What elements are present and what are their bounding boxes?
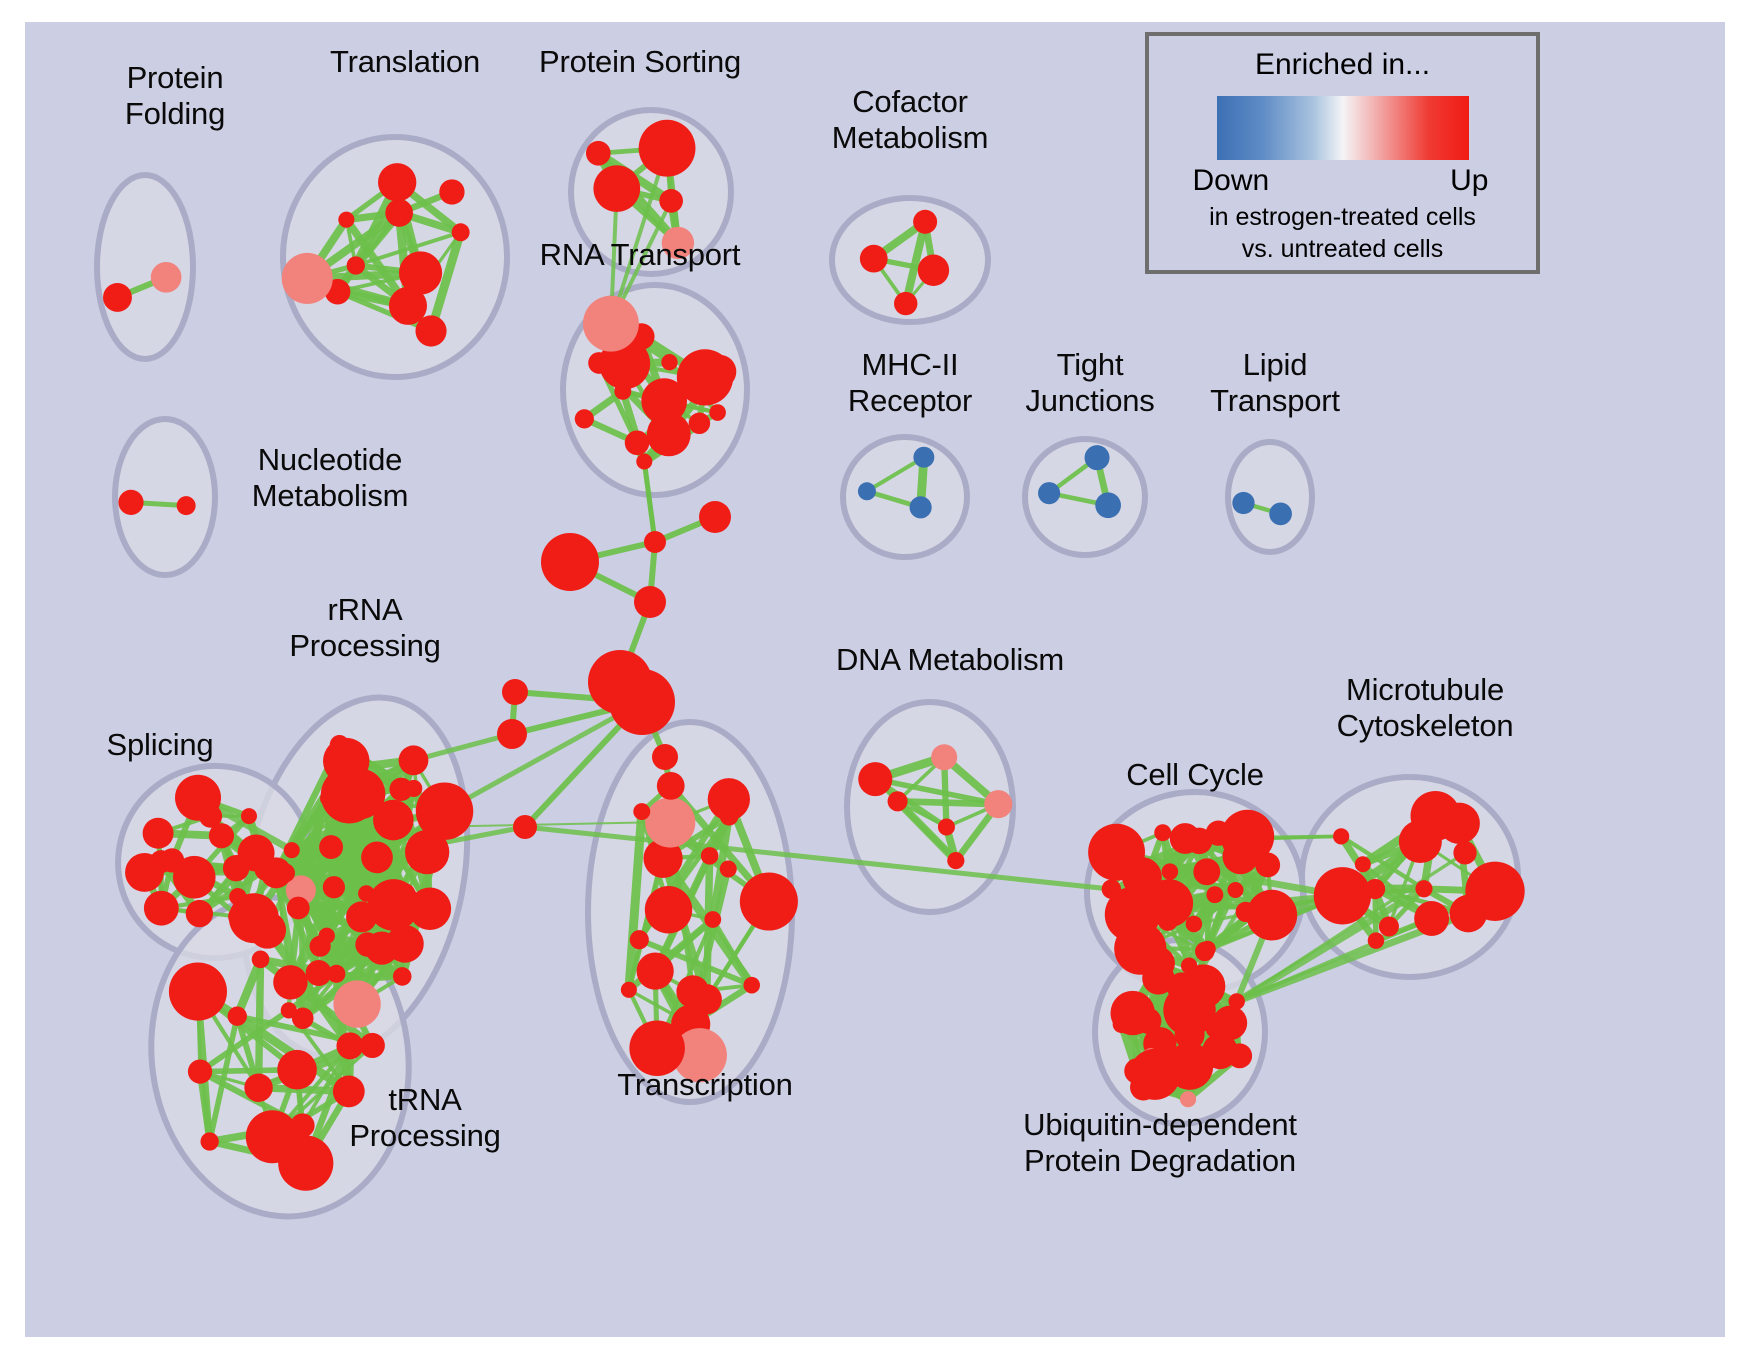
- network-node-dna_metabolism: [888, 791, 908, 811]
- network-node-protein_folding: [103, 283, 132, 312]
- cluster-label-tight_junctions: Tight Junctions: [1000, 347, 1180, 419]
- network-node-rrna_processing: [310, 936, 331, 957]
- network-node-splicing: [125, 853, 164, 892]
- legend-endpoints: Down Up: [1193, 164, 1493, 200]
- network-node-trna_processing: [249, 911, 286, 948]
- network-node-rrna_processing: [393, 967, 412, 986]
- network-node-microtubule: [1379, 916, 1399, 936]
- network-node-dna_metabolism: [947, 852, 964, 869]
- network-node-translation: [439, 179, 464, 204]
- network-node-lipid_transport: [1232, 492, 1254, 514]
- network-node-tight_junctions: [1038, 482, 1060, 504]
- network-node-cell_cycle: [1246, 890, 1297, 941]
- network-canvas: Protein FoldingTranslationProtein Sortin…: [25, 22, 1725, 1337]
- network-node: [634, 586, 666, 618]
- network-node-cell_cycle: [1088, 824, 1145, 881]
- network-node-rna_transport: [636, 453, 652, 469]
- network-node-ubiquitin: [1182, 964, 1226, 1008]
- cluster-label-mhc2_receptor: MHC-II Receptor: [815, 347, 1005, 419]
- cluster-label-ubiquitin: Ubiquitin-dependent Protein Degradation: [990, 1107, 1330, 1179]
- network-node-rna_transport: [703, 355, 737, 389]
- network-node-cell_cycle: [1221, 810, 1274, 863]
- network-node: [513, 815, 537, 839]
- network-node-rna_transport: [709, 404, 726, 421]
- network-node-translation: [282, 253, 333, 304]
- network-node-rrna_processing: [333, 980, 380, 1027]
- network-node-ubiquitin: [1227, 1043, 1252, 1068]
- legend-subtitle-line2: vs. untreated cells: [1149, 234, 1536, 264]
- network-node-rna_transport: [575, 409, 594, 428]
- network-node-splicing: [175, 775, 221, 821]
- network-node-transcription: [720, 861, 737, 878]
- legend-down-label: Down: [1193, 164, 1270, 198]
- network-node-microtubule: [1314, 867, 1371, 924]
- network-node-dna_metabolism: [858, 762, 892, 796]
- network-node-transcription: [637, 953, 674, 990]
- legend-subtitle-line1: in estrogen-treated cells: [1149, 202, 1536, 232]
- network-node-rrna_processing: [409, 888, 452, 931]
- network-node-trna_processing: [169, 962, 227, 1020]
- network-node-microtubule: [1439, 803, 1480, 844]
- network-node-trna_processing: [277, 1050, 317, 1090]
- network-node-lipid_transport: [1269, 502, 1292, 525]
- cluster-label-trna_processing: tRNA Processing: [325, 1082, 525, 1154]
- network-node-transcription: [621, 982, 637, 998]
- network-node-trna_processing: [228, 1006, 247, 1025]
- network-node-ubiquitin: [1142, 947, 1175, 980]
- network-node-cell_cycle: [1193, 858, 1220, 885]
- network-node-transcription: [645, 797, 695, 847]
- network-node: [502, 679, 528, 705]
- cluster-label-cell_cycle: Cell Cycle: [1100, 757, 1290, 793]
- figure-stage: Protein FoldingTranslationProtein Sortin…: [0, 0, 1750, 1360]
- cluster-label-dna_metabolism: DNA Metabolism: [815, 642, 1085, 678]
- legend-up-label: Up: [1450, 164, 1488, 198]
- network-node-dna_metabolism: [984, 790, 1012, 818]
- cluster-label-transcription: Transcription: [585, 1067, 825, 1103]
- network-node-rna_transport: [647, 412, 691, 456]
- network-node-cell_cycle: [1158, 910, 1178, 930]
- network-node-mhc2_receptor: [910, 496, 932, 518]
- cluster-ellipse-protein_folding: [97, 175, 193, 359]
- cluster-label-translation: Translation: [280, 44, 530, 80]
- network-node-rrna_processing: [386, 925, 424, 963]
- network-node-rna_transport: [689, 413, 711, 435]
- legend-box: Enriched in... Down Up in estrogen-treat…: [1145, 32, 1540, 274]
- cluster-label-microtubule: Microtubule Cytoskeleton: [1305, 672, 1545, 744]
- network-node-rrna_processing: [416, 782, 473, 839]
- network-node-microtubule: [1465, 862, 1524, 921]
- cluster-label-cofactor_metab: Cofactor Metabolism: [800, 84, 1020, 156]
- cluster-label-rrna_processing: rRNA Processing: [270, 592, 460, 664]
- network-node-cell_cycle: [1170, 823, 1201, 854]
- network-node-cell_cycle: [1227, 882, 1243, 898]
- network-node-splicing: [144, 891, 179, 926]
- network-node-translation: [415, 315, 446, 346]
- network-node-cofactor_metab: [918, 255, 949, 286]
- cluster-label-nucleotide_metab: Nucleotide Metabolism: [215, 442, 445, 514]
- network-node-ubiquitin: [1113, 1015, 1131, 1033]
- network-node-cell_cycle: [1102, 879, 1121, 898]
- network-node-ubiquitin: [1130, 1074, 1157, 1101]
- network-node-mhc2_receptor: [858, 482, 876, 500]
- network-node-translation: [452, 223, 470, 241]
- network-node-protein_sorting: [593, 165, 640, 212]
- network-node-rna_transport: [588, 352, 610, 374]
- network-node-dna_metabolism: [931, 744, 957, 770]
- network-node-ubiquitin: [1180, 1091, 1196, 1107]
- network-node: [699, 501, 731, 533]
- network-node-splicing: [255, 858, 278, 881]
- network-node-transcription: [708, 778, 750, 820]
- network-node-translation: [378, 163, 416, 201]
- network-node-cofactor_metab: [860, 245, 888, 273]
- network-node-rna_transport: [661, 354, 677, 370]
- network-node-trna_processing: [252, 950, 270, 968]
- network-node-tight_junctions: [1085, 445, 1110, 470]
- network-node-mhc2_receptor: [913, 447, 934, 468]
- network-node-translation: [338, 212, 354, 228]
- network-node-protein_sorting: [639, 120, 696, 177]
- network-node-transcription: [701, 847, 719, 865]
- network-node-ubiquitin: [1229, 993, 1245, 1009]
- network-node-splicing: [186, 900, 213, 927]
- network-node: [609, 669, 675, 735]
- network-node-cofactor_metab: [894, 292, 917, 315]
- network-node-rna_transport: [583, 296, 639, 352]
- network-node-transcription: [657, 772, 685, 800]
- network-node-trna_processing: [336, 1032, 363, 1059]
- cluster-label-protein_folding: Protein Folding: [85, 60, 265, 132]
- network-node-microtubule: [1333, 828, 1349, 844]
- network-node-protein_sorting: [586, 141, 611, 166]
- network-node: [652, 744, 678, 770]
- network-node-splicing: [143, 818, 174, 849]
- network-node-trna_processing: [360, 1033, 385, 1058]
- network-node-transcription: [743, 977, 760, 994]
- network-node-protein_sorting: [659, 189, 683, 213]
- network-node: [644, 531, 666, 553]
- legend-title: Enriched in...: [1149, 48, 1536, 82]
- network-node: [497, 719, 527, 749]
- network-node-trna_processing: [188, 1059, 212, 1083]
- cluster-label-splicing: Splicing: [80, 727, 240, 763]
- network-node-transcription: [630, 930, 649, 949]
- network-node-rrna_processing: [405, 780, 422, 797]
- network-node-transcription: [633, 803, 650, 820]
- network-node-rrna_processing: [361, 842, 393, 874]
- cluster-label-lipid_transport: Lipid Transport: [1185, 347, 1365, 419]
- network-node-transcription: [740, 872, 798, 930]
- network-node-microtubule: [1453, 841, 1476, 864]
- network-node-translation: [385, 199, 413, 227]
- network-node-nucleotide_metab: [118, 490, 143, 515]
- network-node-rrna_processing: [273, 965, 307, 999]
- network-node-rna_transport: [625, 430, 650, 455]
- network-node-tight_junctions: [1095, 492, 1121, 518]
- network-node-transcription: [645, 886, 692, 933]
- network-node-cell_cycle: [1195, 942, 1214, 961]
- network-node-splicing: [276, 863, 295, 882]
- network-node: [541, 533, 599, 591]
- network-node-cell_cycle: [1154, 824, 1171, 841]
- network-node-microtubule: [1368, 932, 1385, 949]
- network-node-rrna_processing: [319, 835, 343, 859]
- network-node-rrna_processing: [399, 745, 429, 775]
- network-node-ubiquitin: [1213, 1006, 1248, 1041]
- network-node-protein_folding: [151, 262, 182, 293]
- network-node-cell_cycle: [1206, 886, 1223, 903]
- network-node-microtubule: [1415, 880, 1432, 897]
- network-node-microtubule: [1355, 856, 1371, 872]
- network-node-rrna_processing: [287, 897, 310, 920]
- network-node-rrna_processing: [320, 790, 336, 806]
- network-node-ubiquitin: [1188, 968, 1206, 986]
- network-node-cell_cycle: [1186, 916, 1203, 933]
- network-node-trna_processing: [281, 1002, 297, 1018]
- legend-colorbar: [1217, 96, 1469, 160]
- network-node-rrna_processing: [284, 842, 300, 858]
- network-node-transcription: [704, 911, 721, 928]
- network-node-rrna_processing: [330, 735, 349, 754]
- network-node-splicing: [241, 808, 257, 824]
- network-node-trna_processing: [327, 965, 345, 983]
- network-node-cell_cycle: [1162, 863, 1179, 880]
- network-node-dna_metabolism: [938, 819, 955, 836]
- network-node-trna_processing: [201, 1132, 219, 1150]
- cluster-label-protein_sorting: Protein Sorting: [505, 44, 775, 80]
- network-node-trna_processing: [244, 1073, 272, 1101]
- network-node-cofactor_metab: [913, 210, 937, 234]
- network-node-rrna_processing: [323, 876, 345, 898]
- network-node-translation: [347, 256, 365, 274]
- network-node-nucleotide_metab: [177, 496, 196, 515]
- cluster-label-rna_transport: RNA Transport: [515, 237, 765, 273]
- network-node-microtubule: [1414, 901, 1449, 936]
- network-node-rrna_processing: [373, 800, 414, 841]
